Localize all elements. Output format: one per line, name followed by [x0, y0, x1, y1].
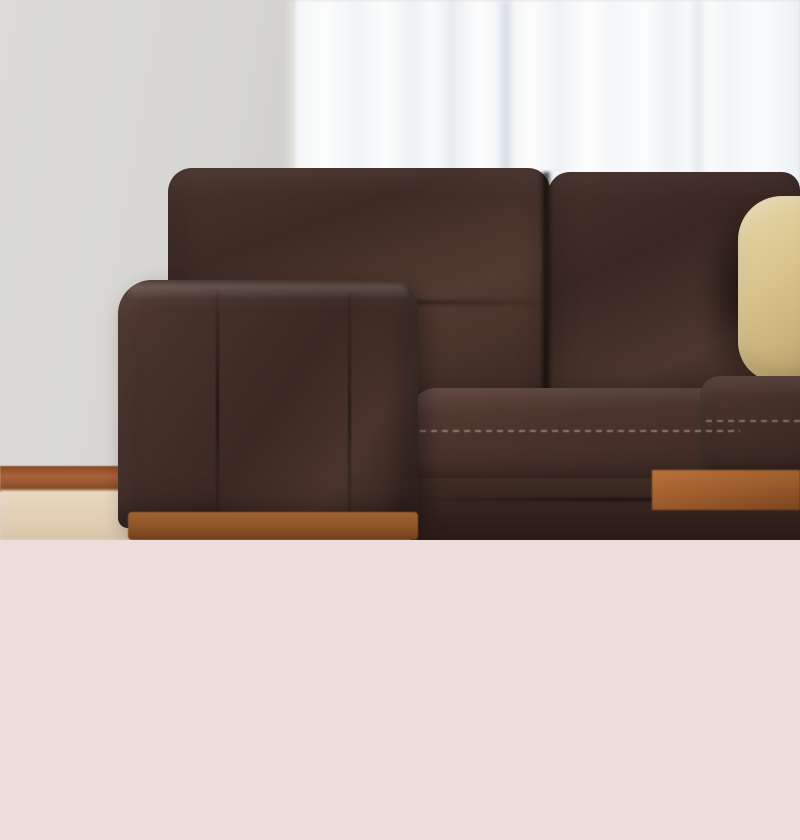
- page-root: Tracking wardrobe project progress: key …: [0, 0, 800, 840]
- hero-photo: [0, 0, 800, 540]
- seat-stitching: [706, 420, 800, 422]
- sofa-cushion-gap: [540, 172, 552, 412]
- info-panel: Tracking wardrobe project progress: key …: [0, 540, 800, 840]
- armrest-seam: [216, 290, 219, 520]
- seat-stitching: [420, 430, 740, 432]
- sofa-seat-cushion-right: [700, 376, 800, 480]
- sofa-wood-base-right: [652, 470, 800, 510]
- armrest-seam: [348, 292, 351, 524]
- sofa-armrest: [118, 280, 418, 528]
- armrest-highlight: [128, 284, 408, 300]
- sofa-wood-base-left: [128, 512, 418, 540]
- beige-throw-cushion: [738, 196, 800, 382]
